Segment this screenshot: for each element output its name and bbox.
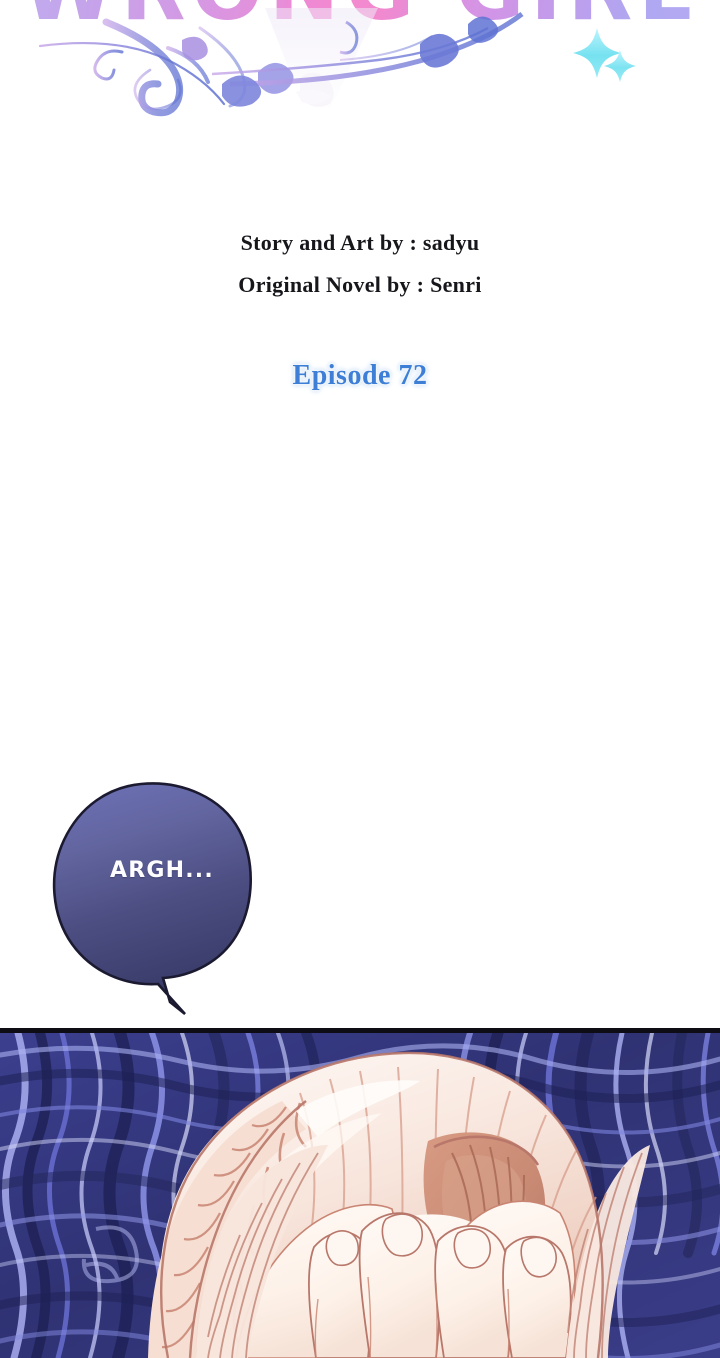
comic-panel	[0, 1028, 720, 1358]
sparkle-star-large	[573, 28, 621, 78]
credit-line-original-novel: Original Novel by : Senri	[0, 264, 720, 306]
title-ornament-group	[0, 0, 720, 120]
credits-block: Story and Art by : sadyu Original Novel …	[0, 222, 720, 306]
speech-bubble-shape	[30, 770, 290, 1030]
webtoon-episode-page: WRONG GIRL	[0, 0, 720, 1358]
flourish-leaf-accents	[182, 37, 294, 94]
floral-flourish-ornament	[40, 22, 245, 113]
episode-number-label: Episode 72	[293, 360, 428, 392]
series-title-logo: WRONG GIRL	[0, 0, 720, 32]
sparkle-star-small	[604, 50, 636, 82]
title-banner: WRONG GIRL	[0, 0, 720, 120]
speech-bubble: ARGH...	[30, 770, 290, 1030]
flourish-sweep-right	[212, 14, 522, 84]
comic-panel-artwork	[0, 1033, 720, 1358]
flourish-blob-accents	[222, 16, 498, 106]
credit-line-story-art: Story and Art by : sadyu	[0, 222, 720, 264]
ghost-emblem	[265, 8, 378, 110]
episode-label-wrap: Episode 72	[0, 360, 720, 392]
